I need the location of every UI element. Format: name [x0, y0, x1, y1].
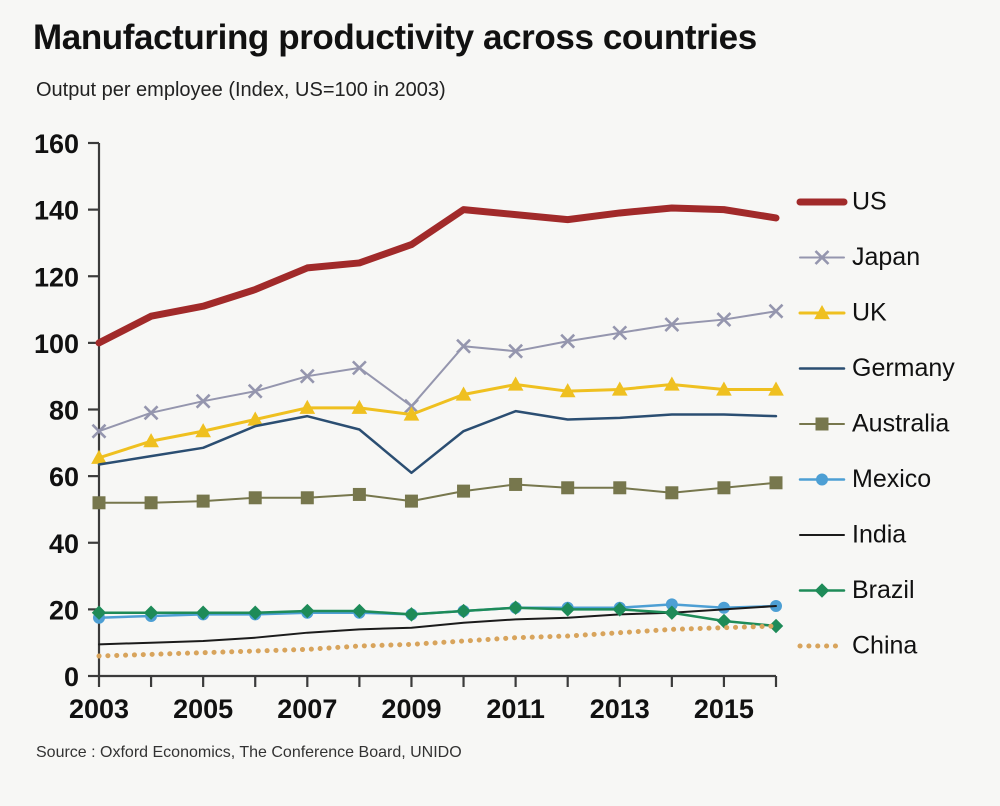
series-line [99, 411, 776, 473]
data-point-marker [301, 492, 313, 504]
legend-label: Brazil [852, 576, 915, 604]
data-point-marker [770, 477, 782, 489]
legend-item-germany[interactable]: Germany [800, 354, 955, 382]
y-tick-label: 40 [49, 529, 79, 559]
y-tick-label: 100 [34, 329, 79, 359]
legend-item-mexico[interactable]: Mexico [800, 465, 931, 493]
legend-item-japan[interactable]: Japan [800, 243, 920, 271]
data-point-marker [816, 584, 829, 597]
y-tick-label: 60 [49, 462, 79, 492]
data-point-marker [717, 615, 730, 628]
legend-label: China [852, 632, 917, 660]
x-tick-label: 2011 [486, 694, 545, 724]
x-tick-label: 2009 [381, 694, 441, 724]
y-tick-label: 160 [34, 129, 79, 159]
data-point-marker [614, 482, 626, 494]
data-point-marker [817, 474, 828, 485]
x-tick-label: 2015 [694, 694, 754, 724]
data-point-marker [718, 482, 730, 494]
data-point-marker [197, 495, 209, 507]
data-point-marker [457, 605, 470, 618]
data-point-marker [509, 601, 522, 614]
y-tick-label: 0 [64, 662, 79, 692]
legend-item-us[interactable]: US [800, 188, 887, 216]
legend-label: UK [852, 299, 887, 327]
data-point-marker [145, 497, 157, 509]
chart-canvas: 020406080100120140160 200320052007200920… [0, 0, 1000, 806]
data-point-marker [405, 495, 417, 507]
y-tick-label: 20 [49, 595, 79, 625]
x-axis: 2003200520072009201120132015 [69, 676, 776, 724]
series-line [99, 311, 776, 431]
line-chart: 020406080100120140160 200320052007200920… [0, 0, 1000, 806]
data-point-marker [458, 485, 470, 497]
data-point-marker [816, 418, 828, 430]
legend-label: Japan [852, 243, 920, 271]
legend-label: India [852, 521, 906, 549]
data-point-marker [562, 482, 574, 494]
data-point-marker [510, 478, 522, 490]
data-point-marker [93, 497, 105, 509]
y-tick-label: 140 [34, 196, 79, 226]
x-tick-label: 2007 [277, 694, 337, 724]
series-layer [92, 208, 783, 656]
data-point-marker [405, 608, 418, 621]
legend-label: US [852, 188, 887, 216]
x-tick-label: 2003 [69, 694, 129, 724]
series-mexico [94, 599, 782, 623]
legend-item-china[interactable]: China [800, 632, 917, 660]
data-point-marker [718, 602, 729, 613]
series-australia [93, 477, 782, 509]
legend-item-india[interactable]: India [800, 521, 906, 549]
y-axis: 020406080100120140160 [34, 129, 99, 692]
data-point-marker [353, 488, 365, 500]
data-point-marker [666, 487, 678, 499]
legend-label: Australia [852, 410, 949, 438]
y-tick-label: 80 [49, 396, 79, 426]
x-tick-label: 2013 [590, 694, 650, 724]
legend-item-uk[interactable]: UK [800, 299, 887, 327]
series-japan [93, 305, 783, 438]
legend-item-australia[interactable]: Australia [800, 410, 949, 438]
chart-legend: USJapanUKGermanyAustraliaMexicoIndiaBraz… [800, 188, 955, 660]
x-tick-label: 2005 [173, 694, 233, 724]
series-germany [99, 411, 776, 473]
y-tick-label: 120 [34, 262, 79, 292]
legend-label: Germany [852, 354, 955, 382]
legend-label: Mexico [852, 465, 931, 493]
legend-item-brazil[interactable]: Brazil [800, 576, 915, 604]
series-line [99, 385, 776, 458]
data-point-marker [249, 492, 261, 504]
